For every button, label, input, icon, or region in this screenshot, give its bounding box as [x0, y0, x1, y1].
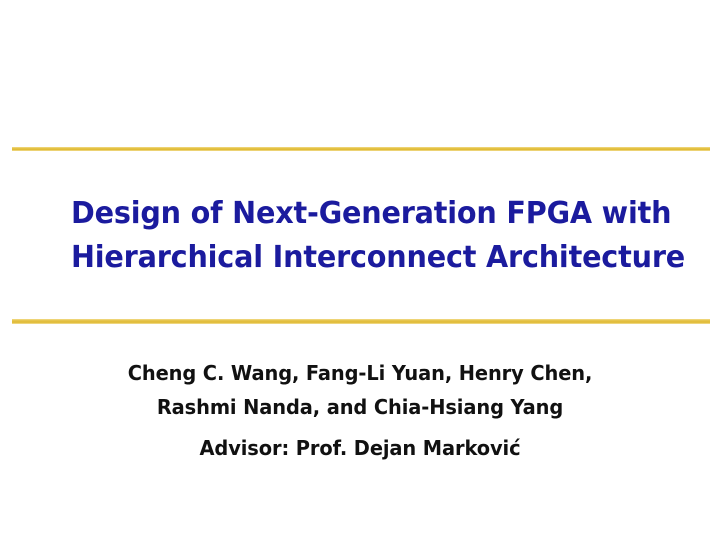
advisor-line: Advisor: Prof. Dejan Marković	[69, 431, 651, 465]
author-line-2: Rashmi Nanda, and Chia-Hsiang Yang	[69, 390, 651, 424]
author-line-1: Cheng C. Wang, Fang-Li Yuan, Henry Chen,	[69, 356, 651, 390]
author-list: Cheng C. Wang, Fang-Li Yuan, Henry Chen,…	[60, 356, 660, 465]
title-line-1: Design of Next-Generation FPGA with	[71, 192, 644, 236]
title-slide: Design of Next-Generation FPGA with Hier…	[0, 0, 720, 540]
title-line-2: Hierarchical Interconnect Architecture	[71, 236, 644, 280]
slide-title: Design of Next-Generation FPGA with Hier…	[71, 192, 671, 280]
top-divider-rule	[12, 147, 710, 151]
bottom-divider-rule	[12, 319, 710, 324]
